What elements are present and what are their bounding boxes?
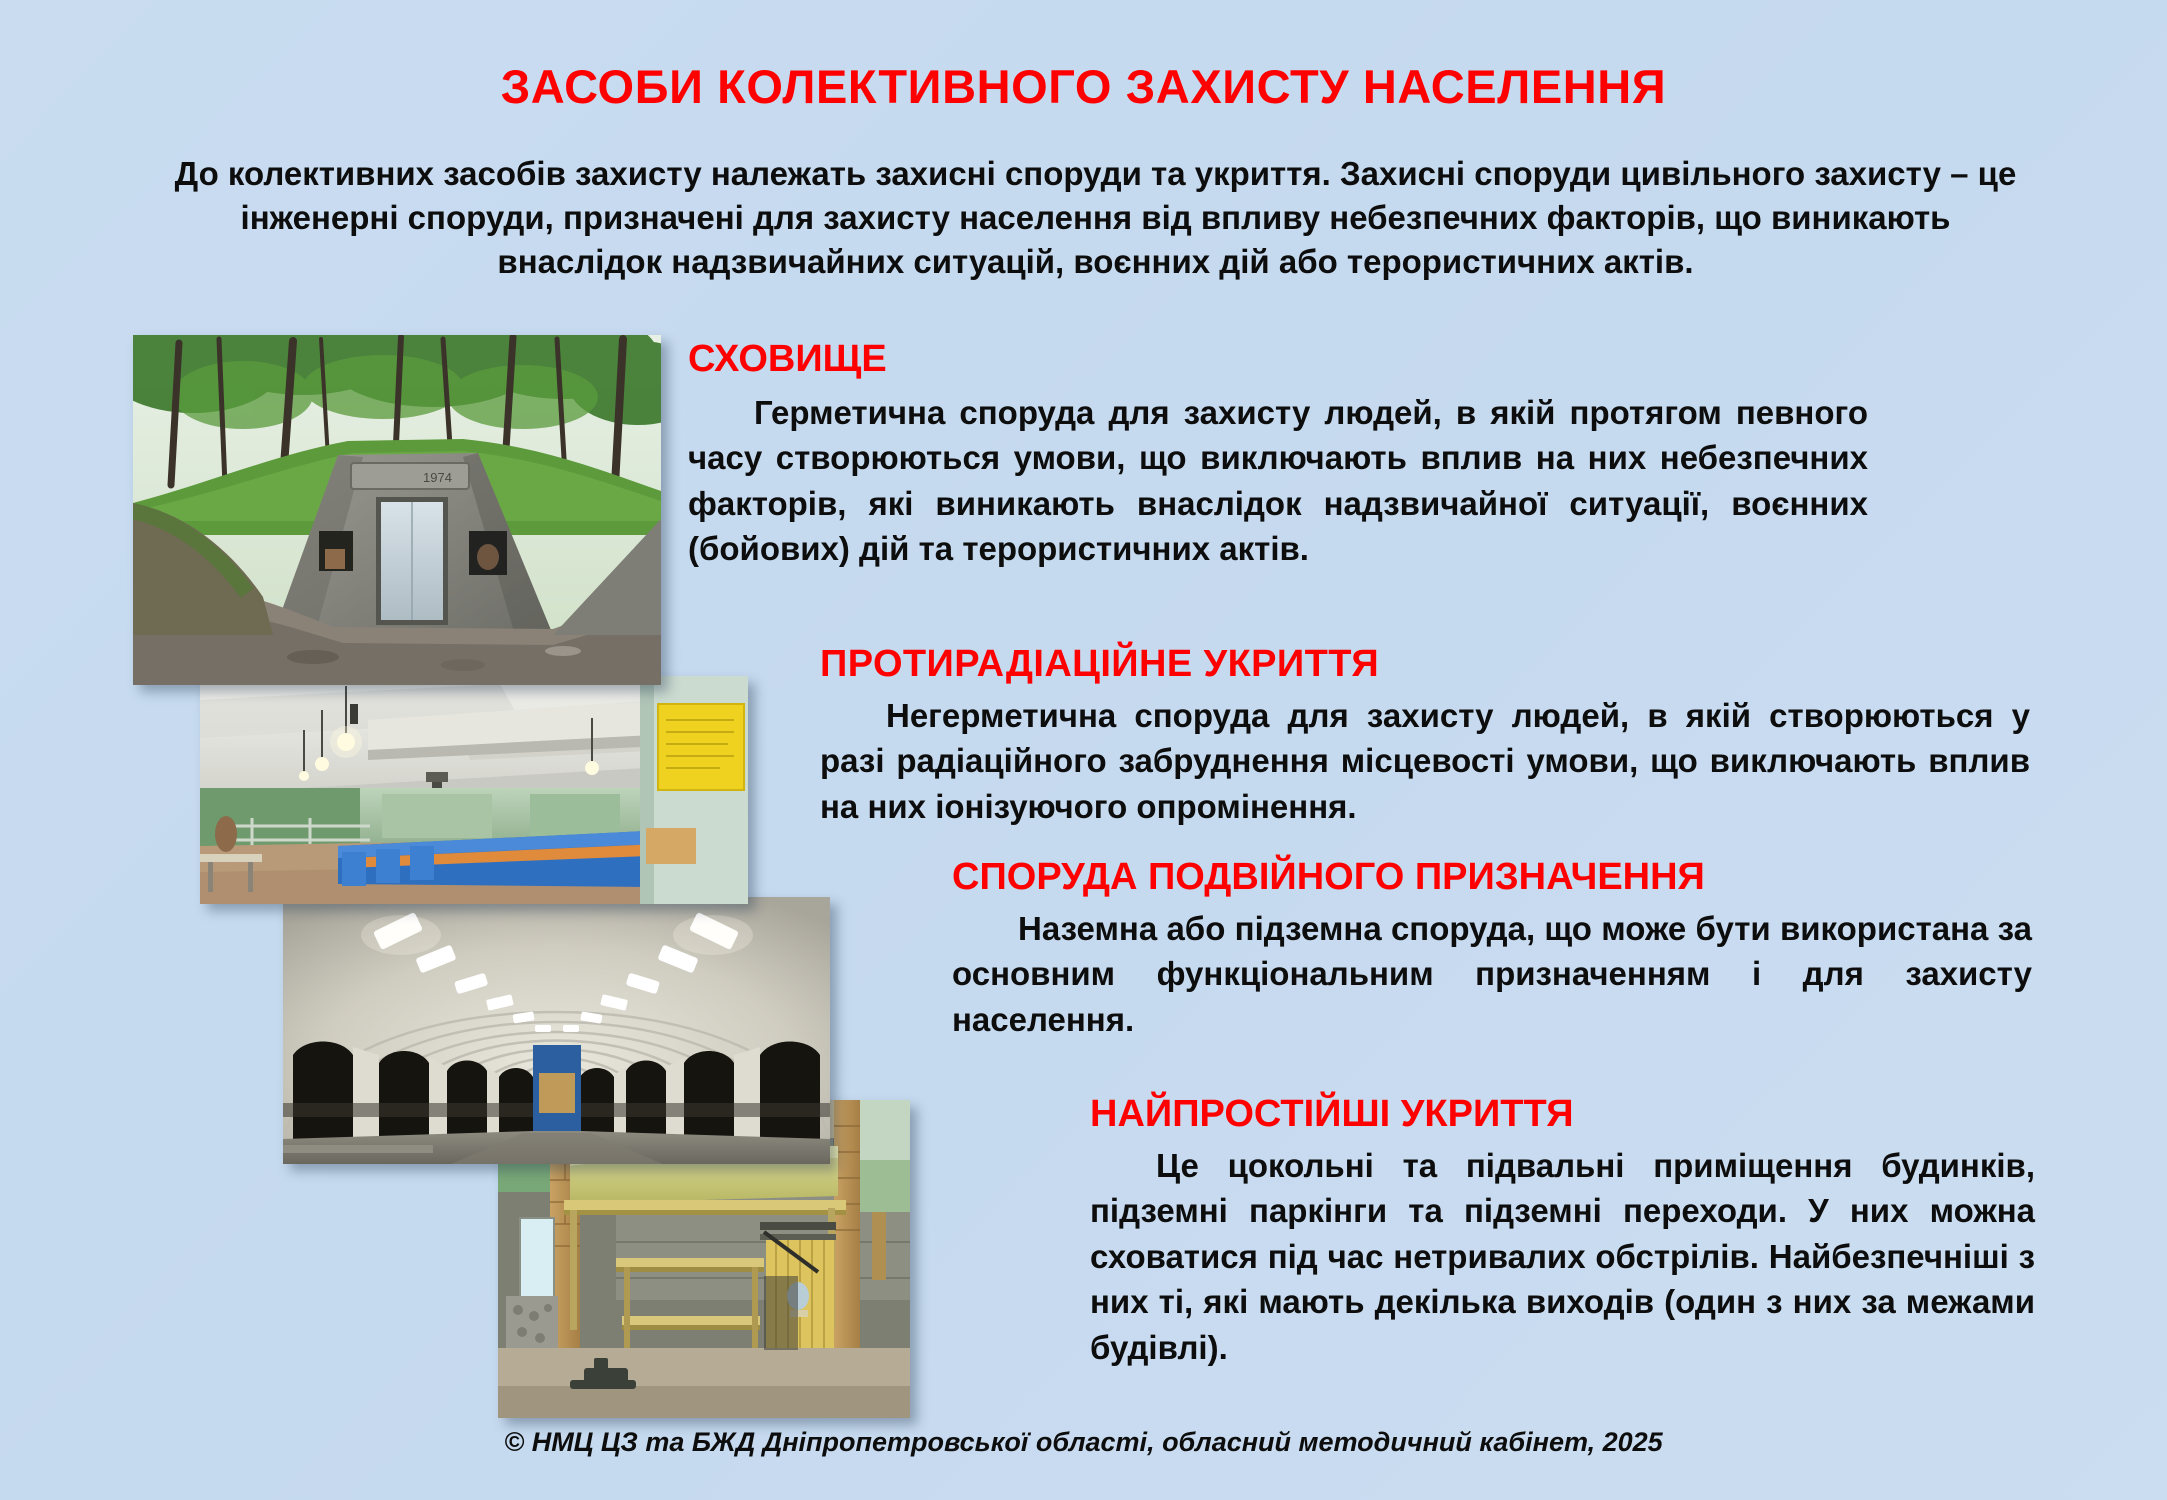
section-dual-purpose-body: Наземна або підземна споруда, що може бу… — [952, 906, 2032, 1043]
section-dual-purpose: СПОРУДА ПОДВІЙНОГО ПРИЗНАЧЕННЯ Наземна а… — [952, 858, 2032, 1042]
shelter-interior-illustration — [200, 676, 748, 904]
infographic-page: ЗАСОБИ КОЛЕКТИВНОГО ЗАХИСТУ НАСЕЛЕННЯ До… — [0, 0, 2167, 1500]
section-shelter-heading: СХОВИЩЕ — [688, 340, 1868, 380]
concrete-bunker-in-forest-photo: 1974 — [133, 335, 661, 685]
metro-tunnel-illustration — [283, 897, 830, 1164]
section-dual-purpose-heading: СПОРУДА ПОДВІЙНОГО ПРИЗНАЧЕННЯ — [952, 858, 2032, 898]
intro-paragraph: До колективних засобів захисту належать … — [168, 152, 2023, 285]
section-radiation-shelter: ПРОТИРАДІАЦІЙНЕ УКРИТТЯ Негерметична спо… — [820, 645, 2030, 829]
page-title: ЗАСОБИ КОЛЕКТИВНОГО ЗАХИСТУ НАСЕЛЕННЯ — [0, 62, 2167, 111]
section-simplest-shelters-body: Це цокольні та підвальні приміщення буди… — [1090, 1143, 2035, 1371]
section-shelter: СХОВИЩЕ Герметична споруда для захисту л… — [688, 340, 1868, 572]
section-simplest-shelters-heading: НАЙПРОСТІЙШІ УКРИТТЯ — [1090, 1095, 2035, 1135]
section-simplest-shelters: НАЙПРОСТІЙШІ УКРИТТЯ Це цокольні та підв… — [1090, 1095, 2035, 1371]
svg-text:1974: 1974 — [423, 470, 452, 485]
section-radiation-shelter-heading: ПРОТИРАДІАЦІЙНЕ УКРИТТЯ — [820, 645, 2030, 685]
section-radiation-shelter-body: Негерметична споруда для захисту людей, … — [820, 693, 2030, 830]
bunker-illustration: 1974 — [133, 335, 661, 685]
section-shelter-body: Герметична споруда для захисту людей, в … — [688, 390, 1868, 572]
underground-shelter-interior-photo — [200, 676, 748, 904]
metro-station-tunnel-photo — [283, 897, 830, 1164]
copyright-footer: © НМЦ ЦЗ та БЖД Дніпропетровської област… — [0, 1427, 2167, 1458]
